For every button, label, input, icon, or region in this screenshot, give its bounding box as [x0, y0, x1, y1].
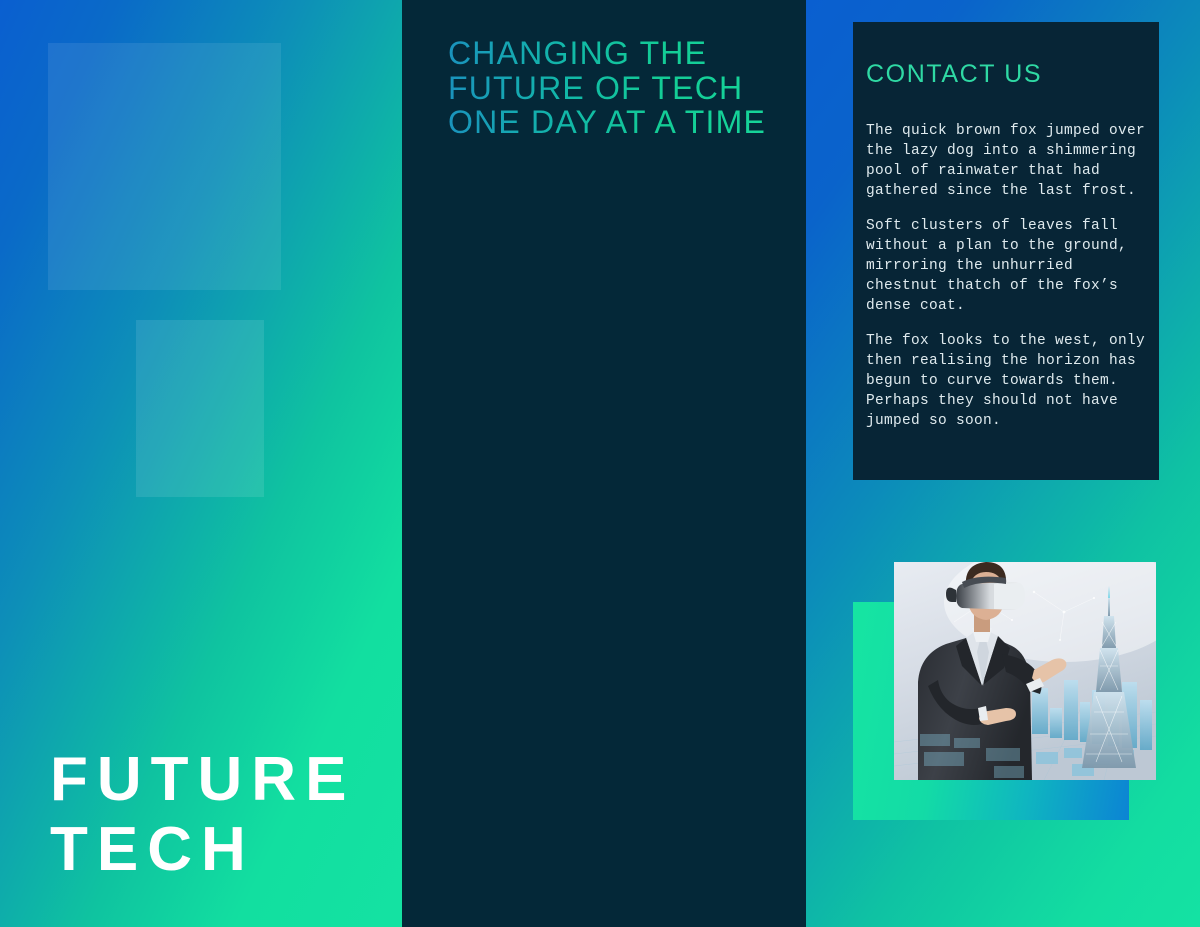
- decorative-rectangle-lower: [136, 320, 264, 497]
- page-title: CHANGING THE FUTURE OF TECH ONE DAY AT A…: [448, 36, 788, 140]
- brand-logo-line-1: FUTURE: [50, 749, 355, 811]
- contact-card-body: The quick brown fox jumped over the lazy…: [866, 121, 1146, 431]
- right-panel: CONTACT US The quick brown fox jumped ov…: [806, 0, 1200, 927]
- businessman-vr-illustration: [894, 562, 1156, 780]
- contact-card-title: CONTACT US: [866, 60, 1159, 89]
- businessman-vr-photo: [894, 562, 1156, 780]
- brochure-page: FUTURE TECH CHANGING THE FUTURE OF TECH …: [0, 0, 1200, 927]
- left-panel: FUTURE TECH: [0, 0, 402, 927]
- paragraph: The quick brown fox jumped over the lazy…: [866, 121, 1146, 201]
- decorative-rectangle-upper: [48, 43, 281, 290]
- brand-logo-line-2: TECH: [50, 819, 355, 881]
- paragraph: Soft clusters of leaves fall without a p…: [866, 216, 1146, 316]
- contact-card: CONTACT US The quick brown fox jumped ov…: [853, 22, 1159, 480]
- brand-logo: FUTURE TECH: [50, 749, 355, 881]
- paragraph: The fox looks to the west, only then rea…: [866, 331, 1146, 431]
- center-panel: CHANGING THE FUTURE OF TECH ONE DAY AT A…: [402, 0, 806, 927]
